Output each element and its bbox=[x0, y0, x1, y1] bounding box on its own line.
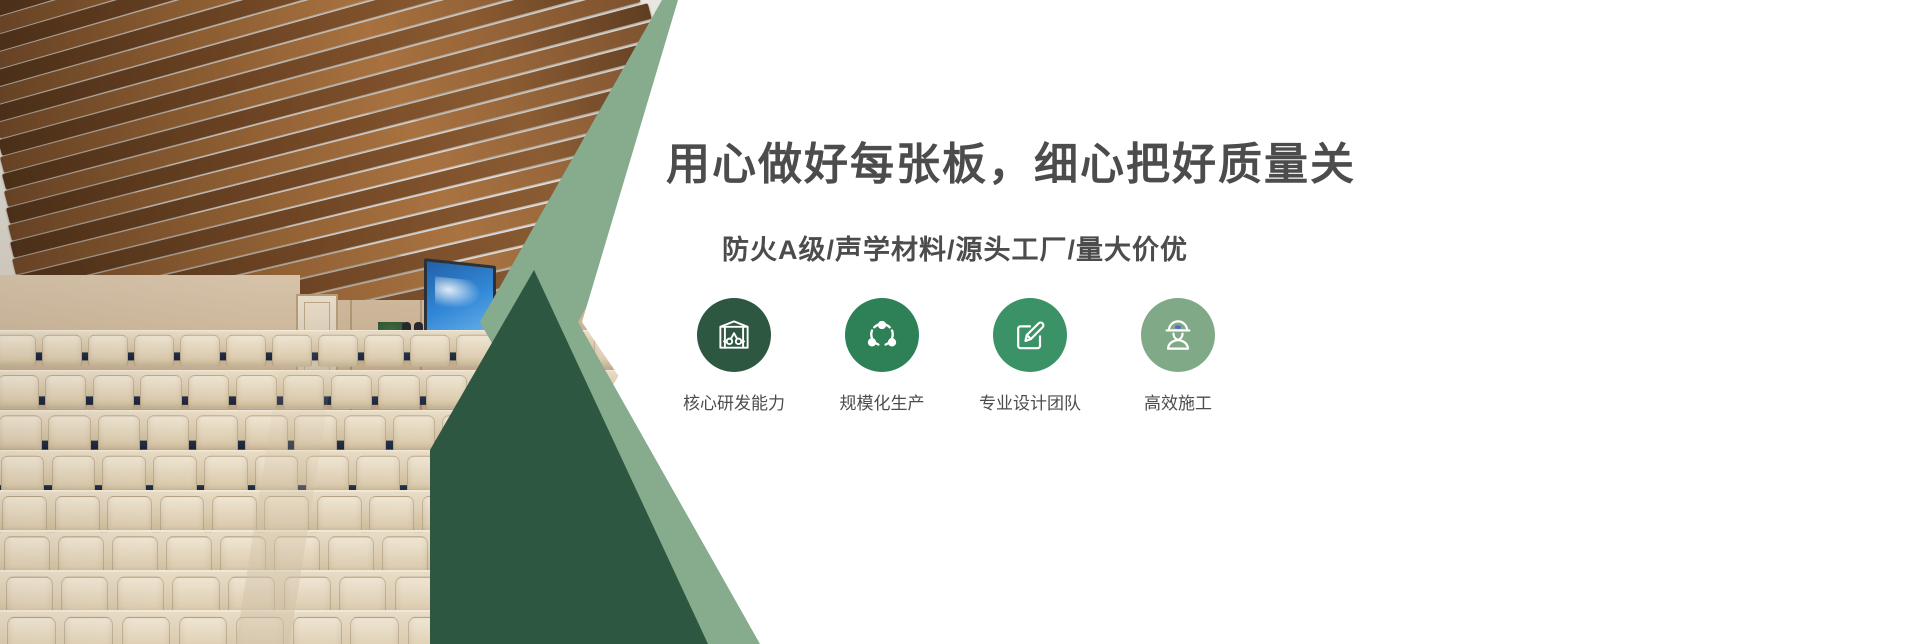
banner-subtitle: 防火A级/声学材料/源头工厂/量大价优 bbox=[722, 228, 1188, 267]
worker-helmet-icon[interactable] bbox=[1141, 298, 1215, 372]
feature-label: 规模化生产 bbox=[840, 389, 925, 414]
seat bbox=[344, 415, 386, 451]
seat bbox=[226, 335, 266, 367]
network-share-icon[interactable] bbox=[845, 298, 919, 372]
seat bbox=[98, 415, 140, 451]
seat bbox=[180, 335, 220, 367]
feature-label: 专业设计团队 bbox=[979, 389, 1081, 414]
seat bbox=[196, 415, 238, 451]
seat bbox=[364, 335, 404, 367]
seat bbox=[393, 415, 435, 451]
seat bbox=[88, 335, 128, 367]
seat bbox=[204, 456, 248, 494]
seat bbox=[331, 375, 372, 409]
seat bbox=[356, 456, 400, 494]
feature-label: 核心研发能力 bbox=[683, 389, 785, 414]
seat bbox=[52, 456, 96, 494]
banner-content: 用心做好每张板，细心把好质量关 防火A级/声学材料/源头工厂/量大价优 核心研发… bbox=[640, 0, 1920, 644]
seat bbox=[0, 335, 36, 367]
feature-item[interactable]: 规模化生产 bbox=[808, 298, 956, 414]
seat bbox=[147, 415, 189, 451]
seat bbox=[48, 415, 90, 451]
seat bbox=[102, 456, 146, 494]
seat bbox=[179, 617, 227, 644]
seat bbox=[293, 617, 341, 644]
seat bbox=[42, 335, 82, 367]
seat bbox=[1, 456, 45, 494]
banner-headline: 用心做好每张板，细心把好质量关 bbox=[666, 128, 1356, 192]
seat bbox=[153, 456, 197, 494]
seat bbox=[350, 617, 398, 644]
pencil-edit-icon[interactable] bbox=[993, 298, 1067, 372]
seat bbox=[236, 375, 277, 409]
seat bbox=[0, 415, 42, 451]
seat bbox=[0, 375, 39, 409]
feature-label: 高效施工 bbox=[1144, 389, 1212, 414]
seat bbox=[378, 375, 419, 409]
feature-item[interactable]: 高效施工 bbox=[1104, 298, 1252, 414]
hero-banner: 用心做好每张板，细心把好质量关 防火A级/声学材料/源头工厂/量大价优 核心研发… bbox=[0, 0, 1920, 644]
seat bbox=[410, 335, 450, 367]
cube-chart-icon[interactable] bbox=[697, 298, 771, 372]
seat bbox=[45, 375, 86, 409]
seat bbox=[134, 335, 174, 367]
seat bbox=[93, 375, 134, 409]
seat bbox=[64, 617, 112, 644]
seat bbox=[188, 375, 229, 409]
feature-item[interactable]: 专业设计团队 bbox=[956, 298, 1104, 414]
feature-list: 核心研发能力规模化生产专业设计团队高效施工 bbox=[660, 298, 1252, 414]
seat bbox=[7, 617, 55, 644]
seat bbox=[122, 617, 170, 644]
seat bbox=[140, 375, 181, 409]
feature-item[interactable]: 核心研发能力 bbox=[660, 298, 808, 414]
